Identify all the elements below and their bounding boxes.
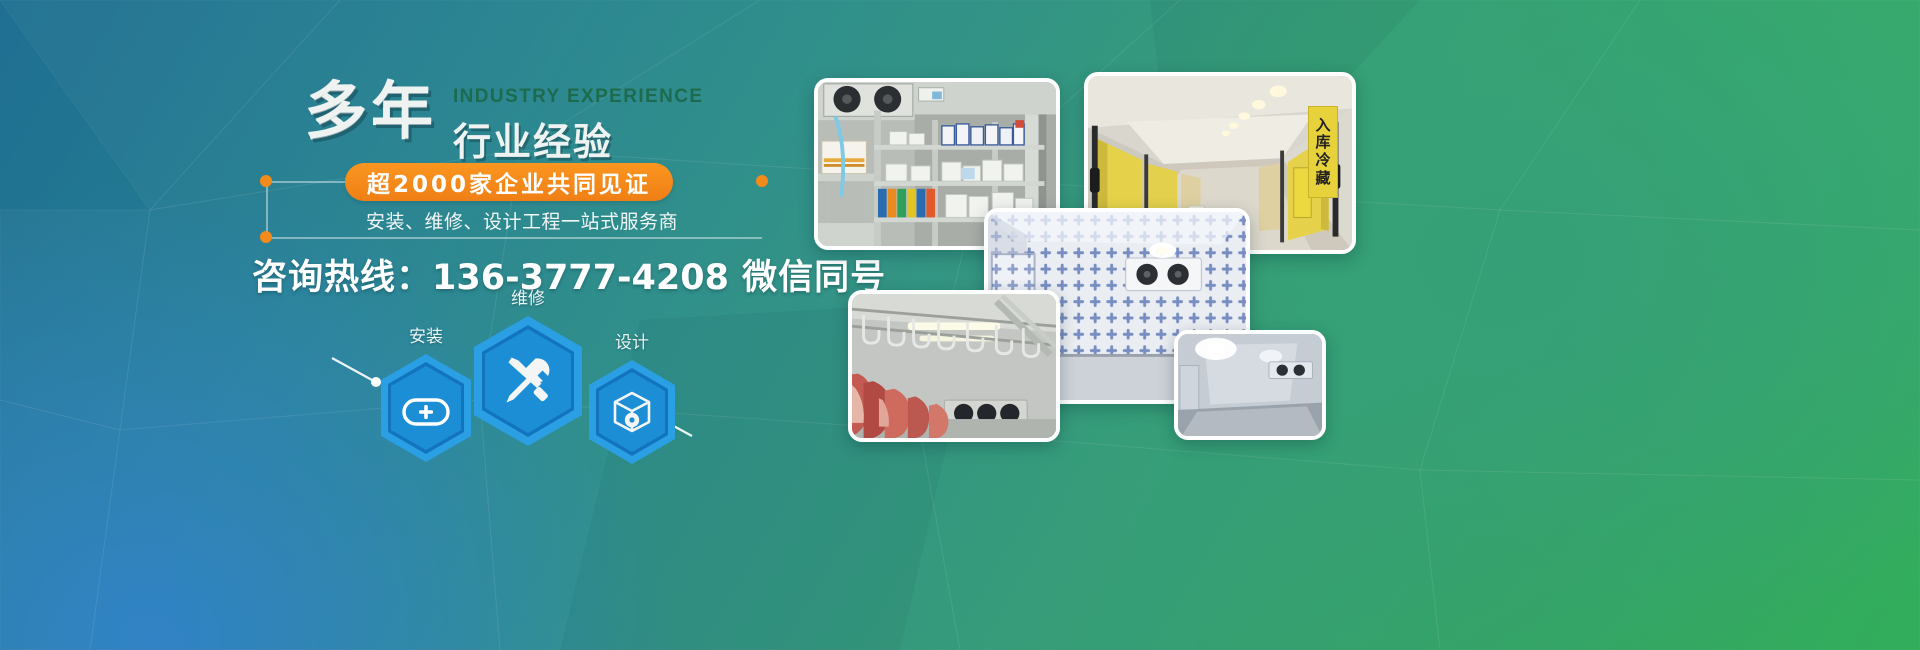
headline-sub-text: 行业经验 <box>453 111 613 166</box>
meat-hanging-rail-photo <box>848 290 1060 442</box>
photo-collage: 入 库 冷 藏 <box>800 0 1920 650</box>
hotline-text: 咨询热线：136-3777-4208 微信同号 <box>252 249 886 300</box>
witness-pill-label: 超2000家企业共同见证 <box>367 165 651 199</box>
sign-char-4: 藏 <box>1315 171 1330 187</box>
sign-char-2: 库 <box>1315 135 1330 151</box>
flow-step-design-label: 设计 <box>615 328 649 353</box>
witness-pill-badge: 超2000家企业共同见证 <box>345 163 673 201</box>
wrench-screwdriver-icon <box>501 353 557 409</box>
flow-step-repair[interactable]: 维修 <box>470 314 586 448</box>
bright-cold-room-photo <box>1174 330 1326 440</box>
hotline-number: 136-3777-4208 <box>432 258 729 298</box>
flow-step-install[interactable]: 安装 <box>378 352 474 464</box>
sign-char-3: 冷 <box>1315 153 1330 169</box>
bracket-dot-top <box>260 175 272 187</box>
headline-english-text: INDUSTRY EXPERIENCE <box>453 86 703 108</box>
cube-gear-icon <box>611 390 653 436</box>
hotline-prefix: 咨询热线： <box>252 258 432 298</box>
plus-badge-icon <box>402 398 450 426</box>
headline-big-text: 多年 <box>305 80 437 142</box>
cold-storage-sign: 入 库 冷 藏 <box>1308 106 1338 198</box>
bracket-bottom-rail <box>266 237 762 239</box>
sign-char-1: 入 <box>1315 118 1330 134</box>
promo-banner: 多年 INDUSTRY EXPERIENCE 行业经验 超2000家企业共同见证… <box>0 0 1920 650</box>
service-flow-diagram: 安装 维修 <box>330 296 730 466</box>
flow-step-repair-label: 维修 <box>511 284 545 309</box>
service-tagline: 安装、维修、设计工程一站式服务商 <box>366 207 678 234</box>
bracket-dot-right <box>756 175 768 187</box>
headline-group: 多年 INDUSTRY EXPERIENCE 行业经验 <box>305 88 775 160</box>
flow-step-design[interactable]: 设计 <box>586 358 678 466</box>
flow-step-install-label: 安装 <box>409 322 443 347</box>
headline-column: 多年 INDUSTRY EXPERIENCE 行业经验 超2000家企业共同见证… <box>0 0 830 650</box>
bracket-dot-bottom <box>260 231 272 243</box>
